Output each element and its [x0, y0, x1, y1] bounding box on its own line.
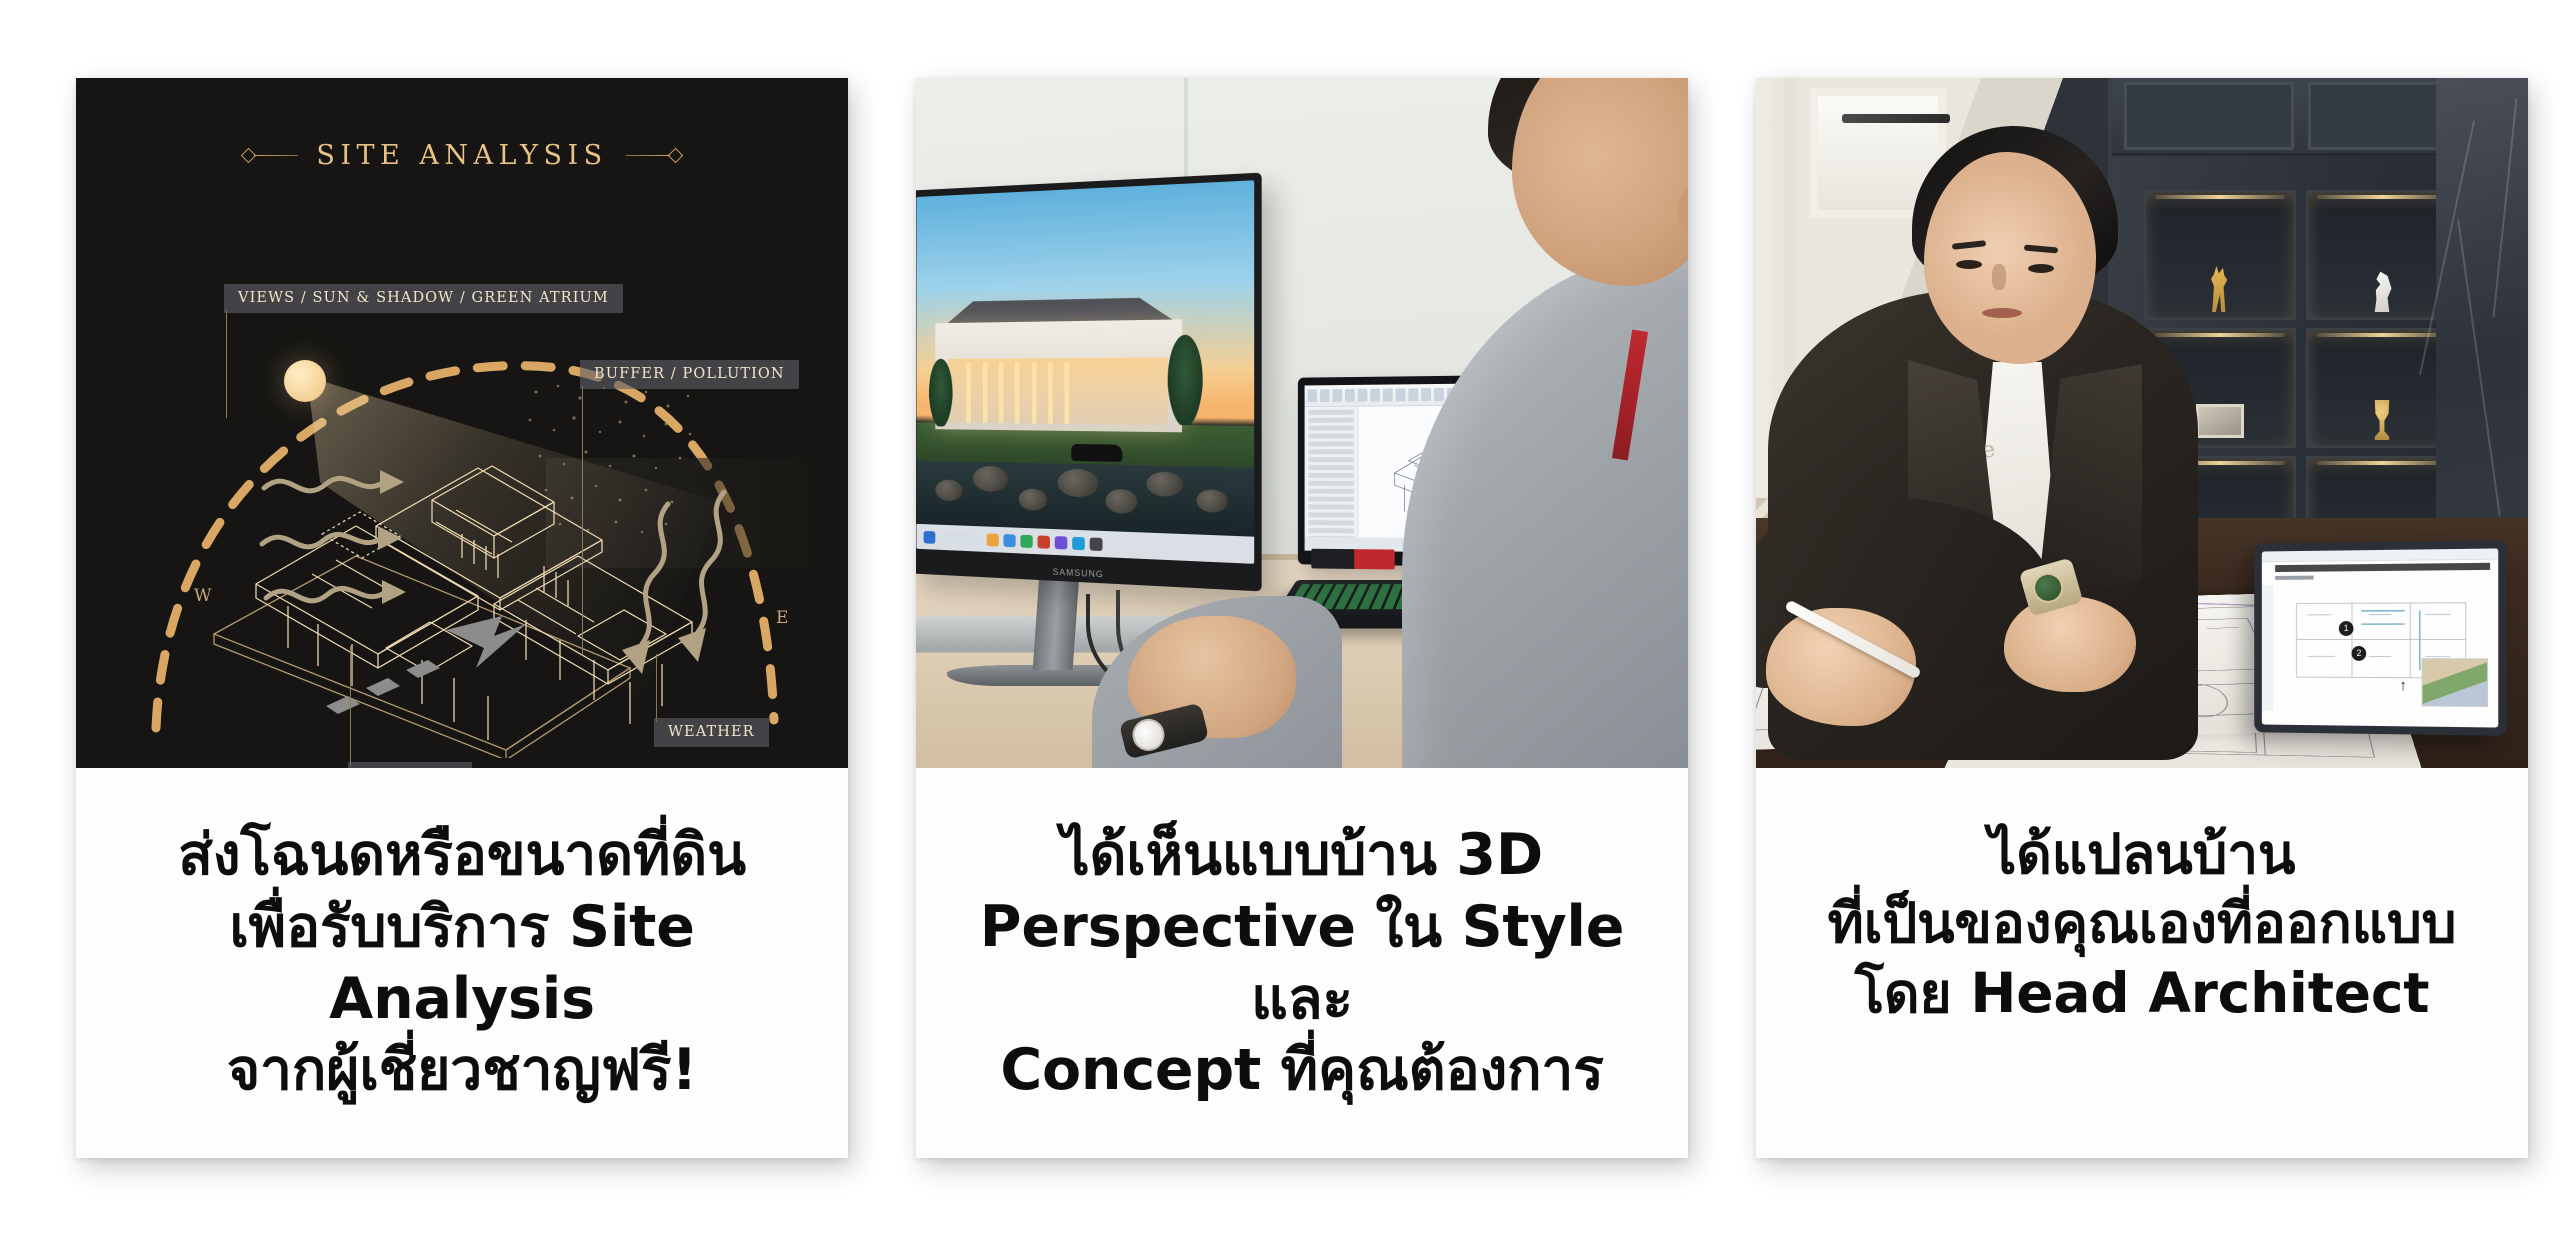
render-tree — [1168, 334, 1203, 425]
designer-shoulder — [1402, 252, 1688, 768]
caption-3-line-2: ที่เป็นของคุณเองที่ออกแบบ — [1828, 891, 2457, 955]
card-head-architect[interactable]: 1 2 ↑ e — [1756, 78, 2528, 1158]
watch-face — [1129, 715, 1168, 754]
taskbar-app-icon[interactable] — [1055, 536, 1068, 549]
tablet-screen[interactable]: 1 2 ↑ — [2262, 548, 2498, 727]
compass-west-label: W — [194, 586, 211, 606]
card-3-media: 1 2 ↑ e — [1756, 78, 2528, 768]
watch-face — [2030, 569, 2067, 606]
gold-deer-figurine — [2205, 266, 2235, 312]
sun-marker-icon — [284, 360, 326, 402]
monitor-stand — [1033, 574, 1080, 670]
monitor-screen — [916, 180, 1254, 564]
caption-1-line-2: เพื่อรับบริการ Site Analysis — [229, 894, 694, 1032]
ornament-left-icon — [243, 150, 298, 161]
tag-approach: APPROACH — [348, 762, 472, 768]
card-3-caption: ได้แปลนบ้าน ที่เป็นของคุณเองที่ออกแบบ โด… — [1756, 768, 2528, 1158]
desktop-monitor: SAMSUNG — [916, 173, 1262, 592]
tablet-browser-bar[interactable] — [2262, 548, 2498, 562]
leader-line-buffer — [582, 386, 583, 654]
photo-frame — [2196, 404, 2244, 438]
gold-trophy — [2367, 400, 2397, 440]
display-shelf — [2144, 190, 2296, 320]
tag-buffer-pollution: BUFFER / POLLUTION — [580, 360, 799, 389]
taskbar-app-icon[interactable] — [1038, 535, 1050, 548]
designer-figure — [1302, 78, 1688, 768]
designer-head — [1512, 78, 1688, 286]
caption-2-line-3: Concept ที่คุณต้องการ — [1000, 1037, 1603, 1103]
caption-2-line-2: Perspective ใน Style และ — [980, 894, 1624, 1032]
architect-nose — [1992, 264, 2006, 290]
north-arrow-icon: ↑ — [2399, 677, 2406, 694]
card-2-media: SAMSUNG ASUS — [916, 78, 1688, 768]
photo-architect-reviewing-plans: 1 2 ↑ e — [1756, 78, 2528, 768]
tablet-headline — [2275, 563, 2490, 572]
caption-3-line-1: ได้แปลนบ้าน — [1989, 822, 2296, 886]
photo-designer-at-desk: SAMSUNG ASUS — [916, 78, 1688, 768]
site-analysis-header: SITE ANALYSIS — [76, 140, 848, 171]
architect-eye — [2028, 264, 2054, 273]
taskbar-app-icon[interactable] — [987, 533, 999, 546]
card-1-caption: ส่งโฉนดหรือขนาดที่ดิน เพื่อรับบริการ Sit… — [76, 768, 848, 1158]
caption-2-line-1: ได้เห็นแบบบ้าน 3D — [1061, 822, 1543, 888]
architect-mouth — [1982, 308, 2022, 318]
card-site-analysis[interactable]: SITE ANALYSIS — [76, 78, 848, 1158]
site-analysis-diagram: SITE ANALYSIS — [76, 78, 848, 768]
taskbar-app-icon[interactable] — [1090, 537, 1103, 551]
windows-start-icon[interactable] — [924, 530, 936, 543]
airflow-arrows-right-icon — [606, 478, 746, 688]
tablet-photo-thumbnail — [2422, 658, 2488, 707]
tag-weather: WEATHER — [654, 718, 769, 747]
airflow-arrows-left-icon — [256, 448, 406, 628]
card-row: SITE ANALYSIS — [0, 0, 2560, 1240]
card-2-caption: ได้เห็นแบบบ้าน 3D Perspective ใน Style แ… — [916, 768, 1688, 1158]
picture-light-icon — [1842, 114, 1950, 123]
caption-1-line-3: จากผู้เชี่ยวชาญฟรี! — [227, 1037, 697, 1103]
leader-line-approach — [350, 646, 351, 766]
leader-line-weather — [656, 654, 657, 722]
tablet-device[interactable]: 1 2 ↑ — [2254, 540, 2506, 736]
taskbar-app-icon[interactable] — [1003, 534, 1015, 547]
compass-east-label: E — [776, 608, 788, 628]
taskbar-search-input[interactable] — [940, 531, 982, 545]
tag-views-sun-shadow-green-atrium: VIEWS / SUN & SHADOW / GREEN ATRIUM — [224, 284, 623, 313]
ornament-right-icon — [626, 150, 681, 161]
chess-knight-figurine — [2368, 270, 2396, 312]
tablet-plan-canvas[interactable]: 1 2 ↑ — [2275, 585, 2492, 711]
card-3d-perspective[interactable]: SAMSUNG ASUS — [916, 78, 1688, 1158]
leader-line-views — [226, 310, 227, 418]
render-interior-glow — [948, 357, 1168, 425]
cabinet-upper-doors — [2112, 78, 2490, 156]
taskbar-app-icon[interactable] — [1020, 534, 1032, 547]
architect-head — [1924, 152, 2096, 364]
render-car — [1071, 443, 1122, 461]
render-tree — [929, 358, 953, 426]
card-1-media: SITE ANALYSIS — [76, 78, 848, 768]
architect-right-hand — [2004, 596, 2136, 692]
tablet-pin-1: 1 — [2344, 623, 2349, 633]
taskbar-app-icon[interactable] — [1072, 536, 1085, 550]
tablet-subtitle — [2275, 576, 2313, 580]
tablet-pin-2: 2 — [2357, 648, 2362, 658]
site-analysis-title: SITE ANALYSIS — [316, 140, 607, 171]
tablet-sidebar[interactable] — [2262, 585, 2273, 711]
caption-1-line-1: ส่งโฉนดหรือขนาดที่ดิน — [178, 822, 746, 888]
caption-3-line-3: โดย Head Architect — [1855, 961, 2430, 1025]
architect-eye — [1956, 260, 1982, 269]
